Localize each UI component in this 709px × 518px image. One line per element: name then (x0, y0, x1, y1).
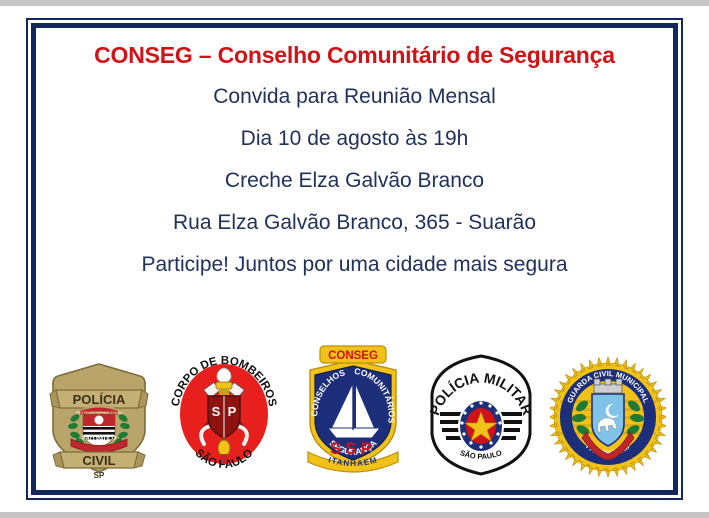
guarda-civil-municipal-logo: GUARDA CIVIL MUNICIPAL ITANHAEM (550, 354, 666, 480)
corpo-bombeiros-emblem-p: P (227, 404, 236, 419)
poster-line: Creche Elza Galvão Branco (225, 169, 484, 193)
poster-content: CONSEG – Conselho Comunitário de Seguran… (36, 28, 673, 490)
poster: CONSEG – Conselho Comunitário de Seguran… (0, 0, 709, 518)
poster-line: Dia 10 de agosto às 19h (241, 127, 469, 151)
corpo-bombeiros-emblem-s: S (211, 404, 220, 419)
poster-body-lines: Convida para Reunião Mensal Dia 10 de ag… (36, 85, 673, 295)
corpo-de-bombeiros-logo: CORPO DE BOMBEIROS SÃO PAULO (164, 348, 284, 480)
logo-strip: POLÍCIA (36, 340, 673, 480)
policia-civil-sp-logo: POLÍCIA (44, 356, 154, 480)
policia-militar-logo: POLÍCIA MILITAR SÃO PAULO (422, 350, 540, 480)
poster-line: Rua Elza Galvão Branco, 365 - Suarão (173, 211, 536, 235)
poster-line: Convida para Reunião Mensal (213, 85, 496, 109)
policia-civil-bottom-text: CIVIL (82, 453, 115, 468)
conseg-itanhaem-logo: CONSELHOS COMUNITÁRIOS SEGURANÇA (294, 340, 412, 480)
conseg-banner-text: CONSEG (328, 350, 378, 362)
poster-title: CONSEG – Conselho Comunitário de Seguran… (36, 42, 673, 69)
bottom-edge-strip (0, 512, 709, 518)
top-edge-strip (0, 0, 709, 6)
policia-civil-sub-text: SP (93, 471, 104, 480)
conseg-center-text: SSP (329, 439, 375, 458)
poster-line: Participe! Juntos por uma cidade mais se… (141, 253, 567, 277)
